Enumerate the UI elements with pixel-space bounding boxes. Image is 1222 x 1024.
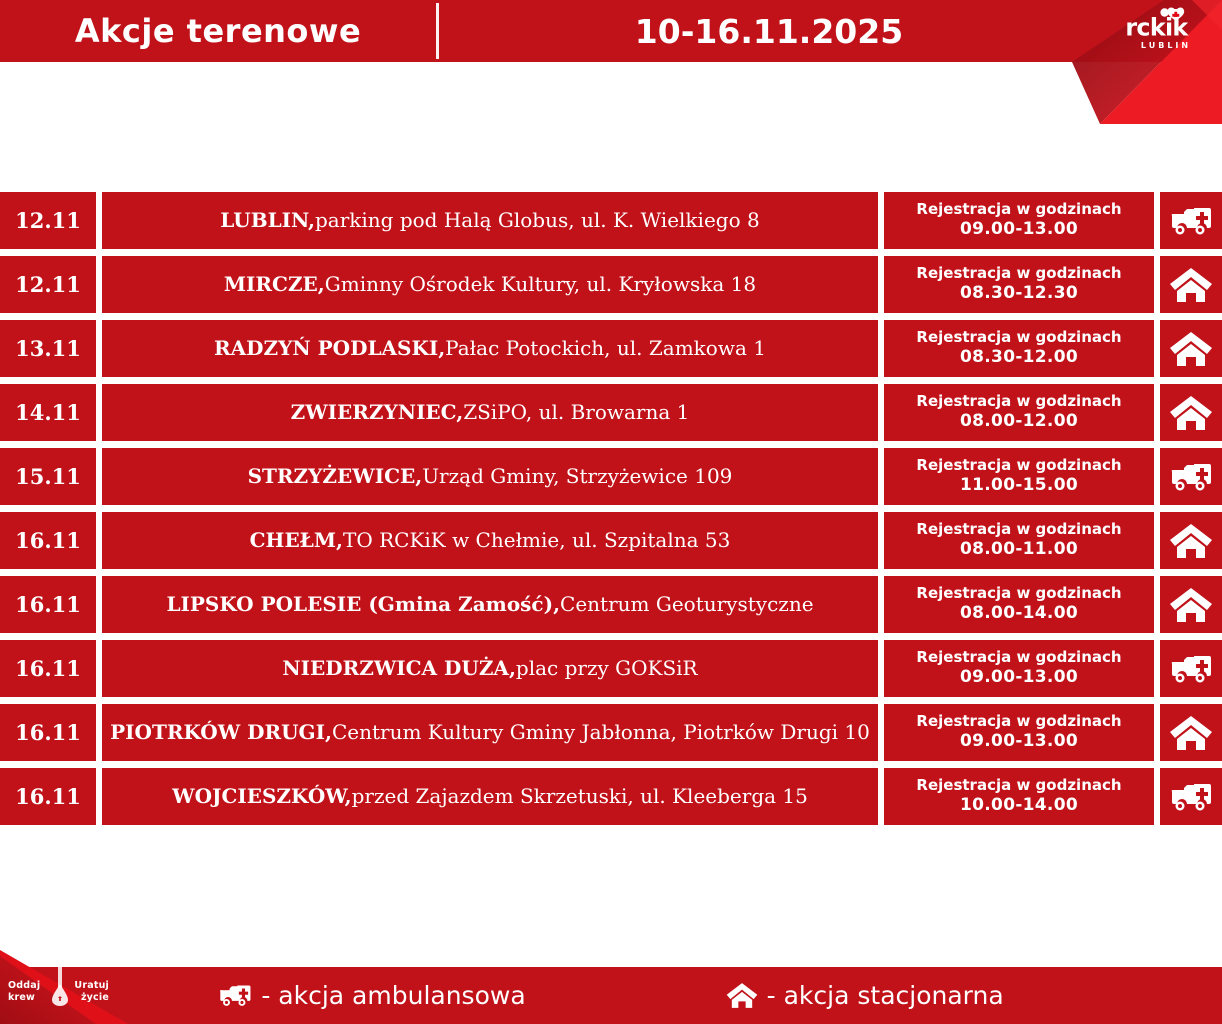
date-range: 10-16.11.2025 <box>439 0 1099 62</box>
row-action-type <box>1160 256 1222 313</box>
ambulance-icon <box>1169 204 1213 238</box>
row-action-type <box>1160 320 1222 377</box>
venue-name: LUBLIN, <box>220 209 315 232</box>
row-hours: Rejestracja w godzinach10.00-14.00 <box>884 768 1154 825</box>
row-action-type <box>1160 576 1222 633</box>
table-row: 16.11 PIOTRKÓW DRUGI, Centrum Kultury Gm… <box>0 704 1222 761</box>
legend-item-ambulance: - akcja ambulansowa <box>218 981 525 1010</box>
logo-subtitle: LUBLIN <box>1124 41 1208 50</box>
venue-name: RADZYŃ PODLASKI, <box>214 337 445 360</box>
hours-label: Rejestracja w godzinach <box>916 264 1121 283</box>
hours-label: Rejestracja w godzinach <box>916 712 1121 731</box>
row-date: 14.11 <box>0 384 96 441</box>
venue-address: Gminny Ośrodek Kultury, ul. Kryłowska 18 <box>325 273 756 296</box>
legend-label: - akcja stacjonarna <box>767 981 1004 1010</box>
slogan-oddaj: Oddaj <box>8 980 40 992</box>
table-row: 15.11 STRZYŻEWICE, Urząd Gminy, Strzyżew… <box>0 448 1222 505</box>
row-venue: MIRCZE, Gminny Ośrodek Kultury, ul. Krył… <box>102 256 878 313</box>
table-row: 13.11 RADZYŃ PODLASKI, Pałac Potockich, … <box>0 320 1222 377</box>
venue-address: Pałac Potockich, ul. Zamkowa 1 <box>445 337 766 360</box>
legend-item-stationary: - akcja stacjonarna <box>726 981 1004 1010</box>
row-venue: STRZYŻEWICE, Urząd Gminy, Strzyżewice 10… <box>102 448 878 505</box>
row-date: 16.11 <box>0 704 96 761</box>
hours-time: 11.00-15.00 <box>960 475 1078 497</box>
hours-label: Rejestracja w godzinach <box>916 776 1121 795</box>
legend-label: - akcja ambulansowa <box>261 981 525 1010</box>
row-action-type <box>1160 192 1222 249</box>
row-hours: Rejestracja w godzinach09.00-13.00 <box>884 704 1154 761</box>
table-row: 12.11 MIRCZE, Gminny Ośrodek Kultury, ul… <box>0 256 1222 313</box>
venue-name: LIPSKO POLESIE (Gmina Zamość), <box>166 593 560 616</box>
row-date: 16.11 <box>0 640 96 697</box>
row-hours: Rejestracja w godzinach08.00-11.00 <box>884 512 1154 569</box>
venue-name: ZWIERZYNIEC, <box>291 401 464 424</box>
table-row: 16.11 NIEDRZWICA DUŻA, plac przy GOKSiR … <box>0 640 1222 697</box>
venue-address: Urząd Gminy, Strzyżewice 109 <box>422 465 732 488</box>
row-date: 16.11 <box>0 576 96 633</box>
row-action-type <box>1160 448 1222 505</box>
rckik-logo: rckik LUBLIN <box>1124 6 1208 56</box>
hours-label: Rejestracja w godzinach <box>916 328 1121 347</box>
table-row: 16.11 CHEŁM, TO RCKiK w Chełmie, ul. Szp… <box>0 512 1222 569</box>
table-row: 16.11 LIPSKO POLESIE (Gmina Zamość), Cen… <box>0 576 1222 633</box>
venue-name: PIOTRKÓW DRUGI, <box>110 721 332 744</box>
row-venue: CHEŁM, TO RCKiK w Chełmie, ul. Szpitalna… <box>102 512 878 569</box>
hours-time: 09.00-13.00 <box>960 731 1078 753</box>
hours-time: 08.00-11.00 <box>960 539 1078 561</box>
venue-address: przed Zajazdem Skrzetuski, ul. Kleeberga… <box>352 785 808 808</box>
slogan-krew: krew <box>8 992 35 1004</box>
row-venue: WOJCIESZKÓW, przed Zajazdem Skrzetuski, … <box>102 768 878 825</box>
row-hours: Rejestracja w godzinach08.00-12.00 <box>884 384 1154 441</box>
row-venue: NIEDRZWICA DUŻA, plac przy GOKSiR <box>102 640 878 697</box>
venue-address: ZSiPO, ul. Browarna 1 <box>463 401 689 424</box>
hours-label: Rejestracja w godzinach <box>916 200 1121 219</box>
row-action-type <box>1160 384 1222 441</box>
ambulance-icon <box>1169 460 1213 494</box>
hours-time: 09.00-13.00 <box>960 667 1078 689</box>
blood-drop-icon <box>52 958 68 1006</box>
row-action-type <box>1160 640 1222 697</box>
venue-name: WOJCIESZKÓW, <box>172 785 351 808</box>
slogan-zycie: życie <box>81 992 109 1004</box>
ambulance-icon <box>1169 652 1213 686</box>
row-hours: Rejestracja w godzinach08.00-14.00 <box>884 576 1154 633</box>
page-title: Akcje terenowe <box>0 0 436 62</box>
house-icon <box>726 982 758 1009</box>
venue-address: Centrum Geoturystyczne <box>560 593 814 616</box>
row-action-type <box>1160 704 1222 761</box>
table-row: 12.11 LUBLIN, parking pod Halą Globus, u… <box>0 192 1222 249</box>
ambulance-icon <box>1169 780 1213 814</box>
house-icon <box>1169 331 1213 367</box>
row-hours: Rejestracja w godzinach09.00-13.00 <box>884 192 1154 249</box>
row-date: 16.11 <box>0 768 96 825</box>
hours-time: 08.00-12.00 <box>960 411 1078 433</box>
venue-name: NIEDRZWICA DUŻA, <box>282 657 516 680</box>
hours-label: Rejestracja w godzinach <box>916 584 1121 603</box>
slogan-uratuj: Uratuj <box>74 980 109 992</box>
row-hours: Rejestracja w godzinach08.30-12.30 <box>884 256 1154 313</box>
hours-label: Rejestracja w godzinach <box>916 648 1121 667</box>
venue-name: MIRCZE, <box>224 273 325 296</box>
venue-name: STRZYŻEWICE, <box>248 465 423 488</box>
ambulance-icon <box>218 982 252 1009</box>
row-hours: Rejestracja w godzinach09.00-13.00 <box>884 640 1154 697</box>
poster-root: Akcje terenowe 10-16.11.2025 rckik <box>0 0 1222 1024</box>
schedule-table: 12.11 LUBLIN, parking pod Halą Globus, u… <box>0 192 1222 832</box>
table-row: 14.11 ZWIERZYNIEC, ZSiPO, ul. Browarna 1… <box>0 384 1222 441</box>
row-date: 15.11 <box>0 448 96 505</box>
house-icon <box>1169 715 1213 751</box>
table-row: 16.11 WOJCIESZKÓW, przed Zajazdem Skrzet… <box>0 768 1222 825</box>
header-bar: Akcje terenowe 10-16.11.2025 <box>0 0 1222 62</box>
row-venue: LUBLIN, parking pod Halą Globus, ul. K. … <box>102 192 878 249</box>
row-action-type <box>1160 768 1222 825</box>
venue-address: plac przy GOKSiR <box>516 657 698 680</box>
hours-time: 08.00-14.00 <box>960 603 1078 625</box>
row-date: 12.11 <box>0 192 96 249</box>
hours-time: 09.00-13.00 <box>960 219 1078 241</box>
row-venue: RADZYŃ PODLASKI, Pałac Potockich, ul. Za… <box>102 320 878 377</box>
hours-time: 08.30-12.30 <box>960 283 1078 305</box>
house-icon <box>1169 395 1213 431</box>
row-venue: PIOTRKÓW DRUGI, Centrum Kultury Gminy Ja… <box>102 704 878 761</box>
venue-address: Centrum Kultury Gminy Jabłonna, Piotrków… <box>332 721 870 744</box>
row-date: 16.11 <box>0 512 96 569</box>
row-hours: Rejestracja w godzinach08.30-12.00 <box>884 320 1154 377</box>
row-date: 12.11 <box>0 256 96 313</box>
venue-name: CHEŁM, <box>250 529 343 552</box>
hours-label: Rejestracja w godzinach <box>916 456 1121 475</box>
hours-time: 08.30-12.00 <box>960 347 1078 369</box>
venue-address: TO RCKiK w Chełmie, ul. Szpitalna 53 <box>343 529 730 552</box>
house-icon <box>1169 267 1213 303</box>
venue-address: parking pod Halą Globus, ul. K. Wielkieg… <box>315 209 760 232</box>
hours-label: Rejestracja w godzinach <box>916 392 1121 411</box>
rckik-logo-icon: rckik <box>1124 6 1208 40</box>
hours-label: Rejestracja w godzinach <box>916 520 1121 539</box>
row-action-type <box>1160 512 1222 569</box>
row-venue: ZWIERZYNIEC, ZSiPO, ul. Browarna 1 <box>102 384 878 441</box>
house-icon <box>1169 523 1213 559</box>
house-icon <box>1169 587 1213 623</box>
blood-donation-slogan: Oddaj Uratuj krew życie <box>6 980 111 1004</box>
row-hours: Rejestracja w godzinach11.00-15.00 <box>884 448 1154 505</box>
svg-text:rckik: rckik <box>1125 14 1189 40</box>
row-date: 13.11 <box>0 320 96 377</box>
hours-time: 10.00-14.00 <box>960 795 1078 817</box>
footer-legend-bar: - akcja ambulansowa - akcja stacjonarna <box>0 967 1222 1024</box>
row-venue: LIPSKO POLESIE (Gmina Zamość), Centrum G… <box>102 576 878 633</box>
